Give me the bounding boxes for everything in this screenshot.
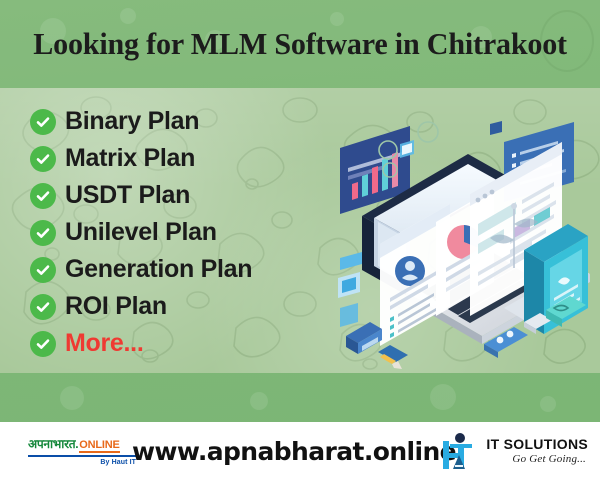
it-solutions-name: IT SOLUTIONS [486, 437, 588, 451]
it-solutions-tagline: Go Get Going... [512, 453, 588, 465]
list-item: Generation Plan [30, 252, 330, 287]
list-item-label: Unilevel Plan [65, 220, 217, 245]
list-item: Binary Plan [30, 104, 330, 139]
poster-canvas: Looking for MLM Software in Chitrakoot [0, 0, 600, 480]
footer-bar: अपनाभारत . ONLINE By Haut IT www.apnabha… [0, 422, 600, 480]
check-circle-icon [30, 257, 56, 283]
it-solutions-logo[interactable]: IT SOLUTIONS Go Get Going... [437, 431, 588, 471]
list-item-label: ROI Plan [65, 294, 167, 319]
it-solutions-mark-icon [437, 431, 481, 471]
check-circle-icon [30, 183, 56, 209]
list-item: Unilevel Plan [30, 215, 330, 250]
list-item-label: Binary Plan [65, 109, 199, 134]
list-item-label: Generation Plan [65, 257, 252, 282]
list-item: More... [30, 326, 330, 361]
list-item: USDT Plan [30, 178, 330, 213]
isometric-laptop-dashboard-illustration [318, 96, 600, 373]
list-item-label: More... [65, 331, 143, 356]
check-circle-icon [30, 331, 56, 357]
check-circle-icon [30, 220, 56, 246]
check-circle-icon [30, 146, 56, 172]
title-bar: Looking for MLM Software in Chitrakoot [0, 0, 600, 88]
list-item: Matrix Plan [30, 141, 330, 176]
plans-checklist: Binary Plan Matrix Plan USDT Plan Unilev… [30, 104, 330, 363]
list-item-label: Matrix Plan [65, 146, 195, 171]
check-circle-icon [30, 294, 56, 320]
list-item: ROI Plan [30, 289, 330, 324]
list-item-label: USDT Plan [65, 183, 190, 208]
page-title: Looking for MLM Software in Chitrakoot [33, 26, 567, 62]
check-circle-icon [30, 109, 56, 135]
